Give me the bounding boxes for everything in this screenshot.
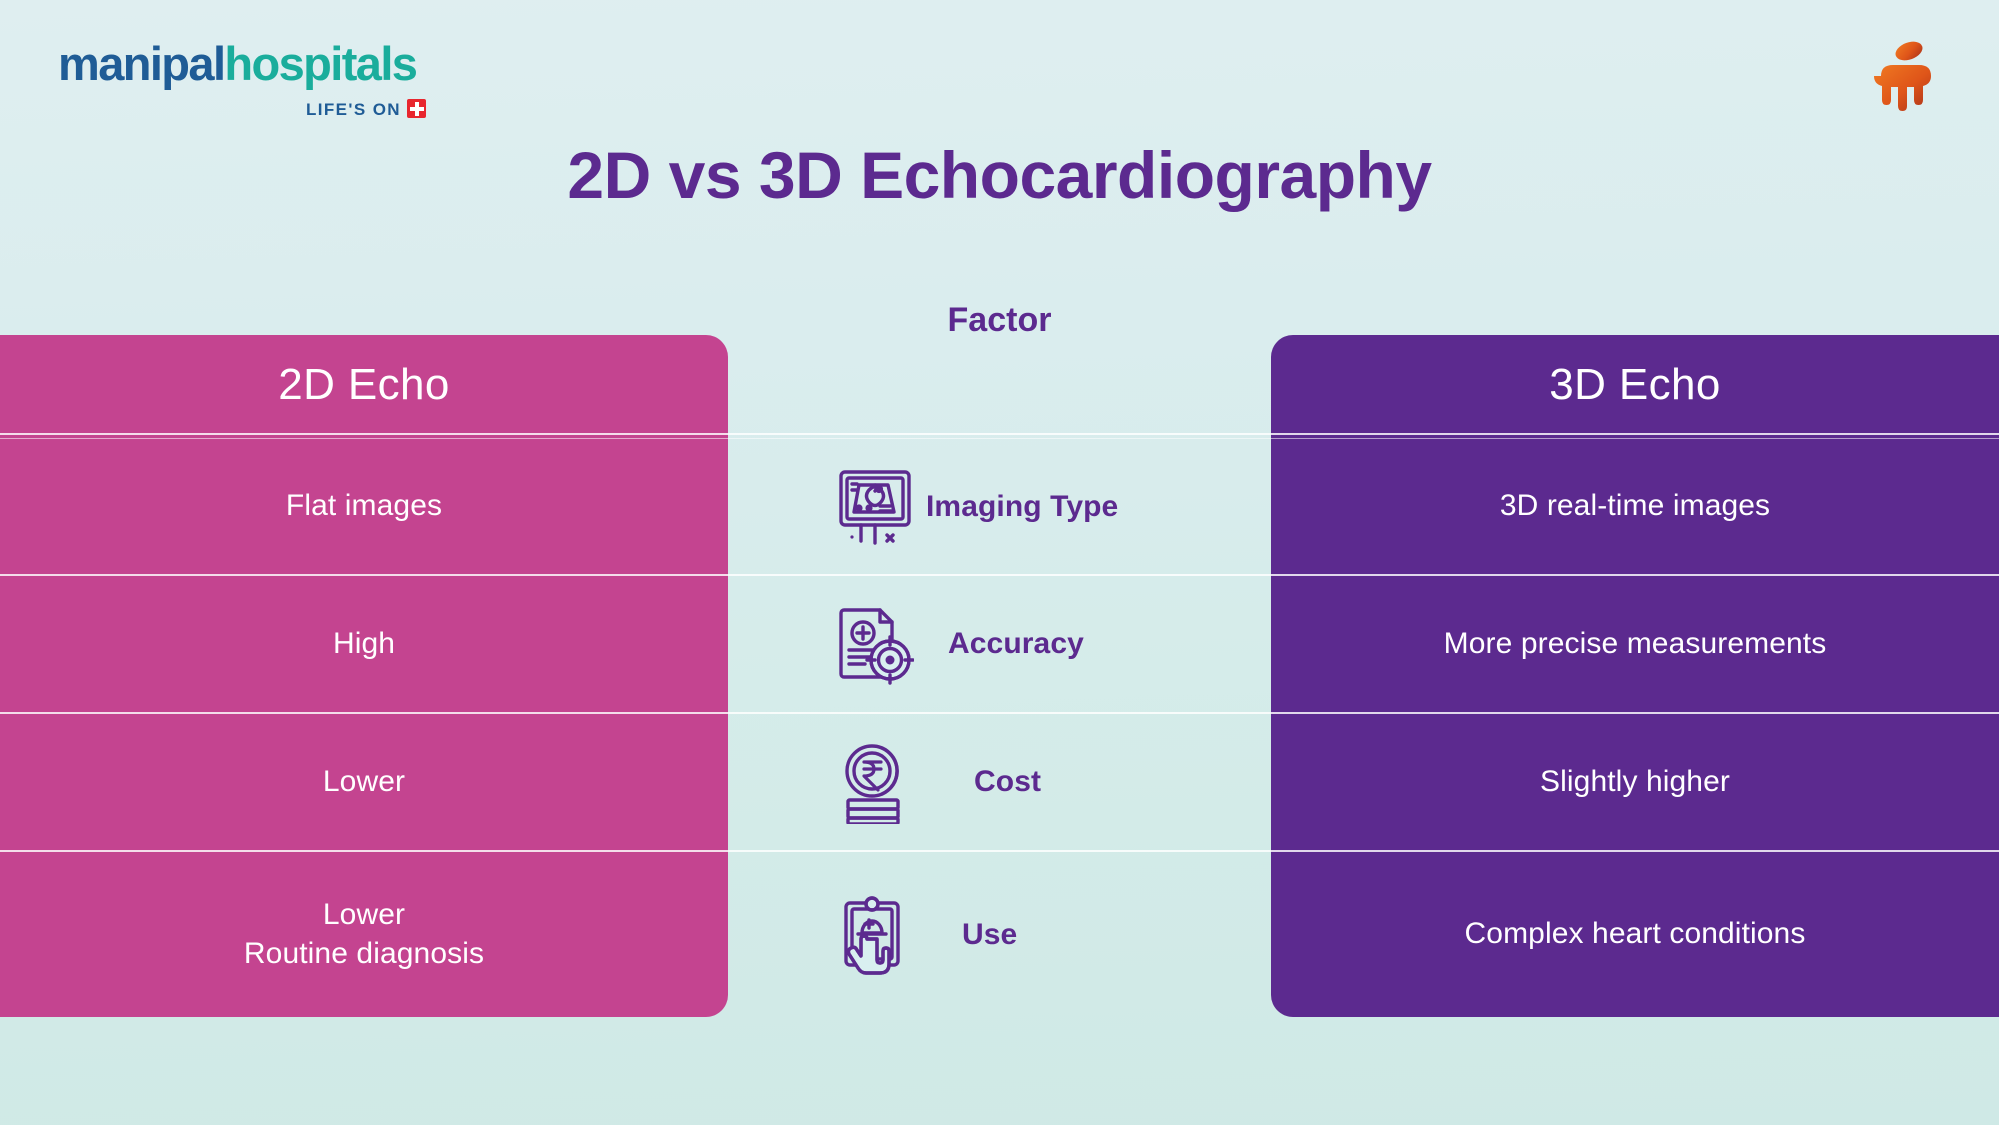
page-title: 2D vs 3D Echocardiography <box>0 137 1999 213</box>
header-factor-label: Factor <box>948 301 1052 340</box>
cell-2d-accuracy: High <box>0 576 728 712</box>
table-row: Lower Routine diagnosis <box>0 852 1999 1017</box>
cell-2d-use-line1: Lower <box>323 898 405 931</box>
manipal-flame-mark-icon <box>1871 36 1941 114</box>
cell-3d-use: Complex heart conditions <box>1271 852 1999 1017</box>
table-row: Lower Cost <box>0 714 1999 850</box>
cell-factor-imaging-type: Imaging Type <box>728 439 1271 574</box>
cell-2d-cost: Lower <box>0 714 728 850</box>
logo-wordmark-hospitals: hospitals <box>224 37 416 90</box>
hand-clipboard-icon <box>836 893 914 977</box>
logo-tagline: LIFE'S ON <box>58 99 426 120</box>
cell-2d-use: Lower Routine diagnosis <box>0 852 728 1017</box>
factor-label-imaging-type: Imaging Type <box>926 490 1118 524</box>
cell-3d-cost: Slightly higher <box>1271 714 1999 850</box>
header-cell-2d-echo: 2D Echo <box>0 335 728 435</box>
factor-label-use: Use <box>962 918 1017 952</box>
logo-tagline-text: LIFE'S ON <box>306 100 401 119</box>
cell-factor-cost: Cost <box>728 714 1271 850</box>
header-cell-3d-echo: 3D Echo <box>1271 335 1999 435</box>
ultrasound-monitor-icon <box>836 465 914 549</box>
header-cell-factor: Factor <box>728 335 1271 435</box>
cell-2d-use-line2: Routine diagnosis <box>244 937 484 970</box>
table-row: Flat images <box>0 439 1999 574</box>
comparison-table: 2D Echo Factor 3D Echo Flat images <box>0 335 1999 1017</box>
manipal-hospitals-logo: manipalhospitals LIFE'S ON <box>58 40 438 130</box>
cell-3d-imaging-type: 3D real-time images <box>1271 439 1999 574</box>
cell-3d-accuracy: More precise measurements <box>1271 576 1999 712</box>
cell-factor-accuracy: Accuracy <box>728 576 1271 712</box>
infographic-canvas: manipalhospitals LIFE'S ON 2D vs 3D Echo… <box>0 0 1999 1125</box>
cell-2d-imaging-type: Flat images <box>0 439 728 574</box>
medical-cross-icon <box>407 99 426 118</box>
factor-label-cost: Cost <box>974 765 1041 799</box>
logo-wordmark-manipal: manipal <box>58 37 224 90</box>
table-row: High <box>0 576 1999 712</box>
factor-label-accuracy: Accuracy <box>948 627 1084 661</box>
rupee-coin-stack-icon <box>836 740 914 824</box>
logo-wordmark: manipalhospitals <box>58 40 438 87</box>
cell-factor-use: Use <box>728 852 1271 1017</box>
table-header-row: 2D Echo Factor 3D Echo <box>0 335 1999 435</box>
medical-report-target-icon <box>836 602 914 686</box>
